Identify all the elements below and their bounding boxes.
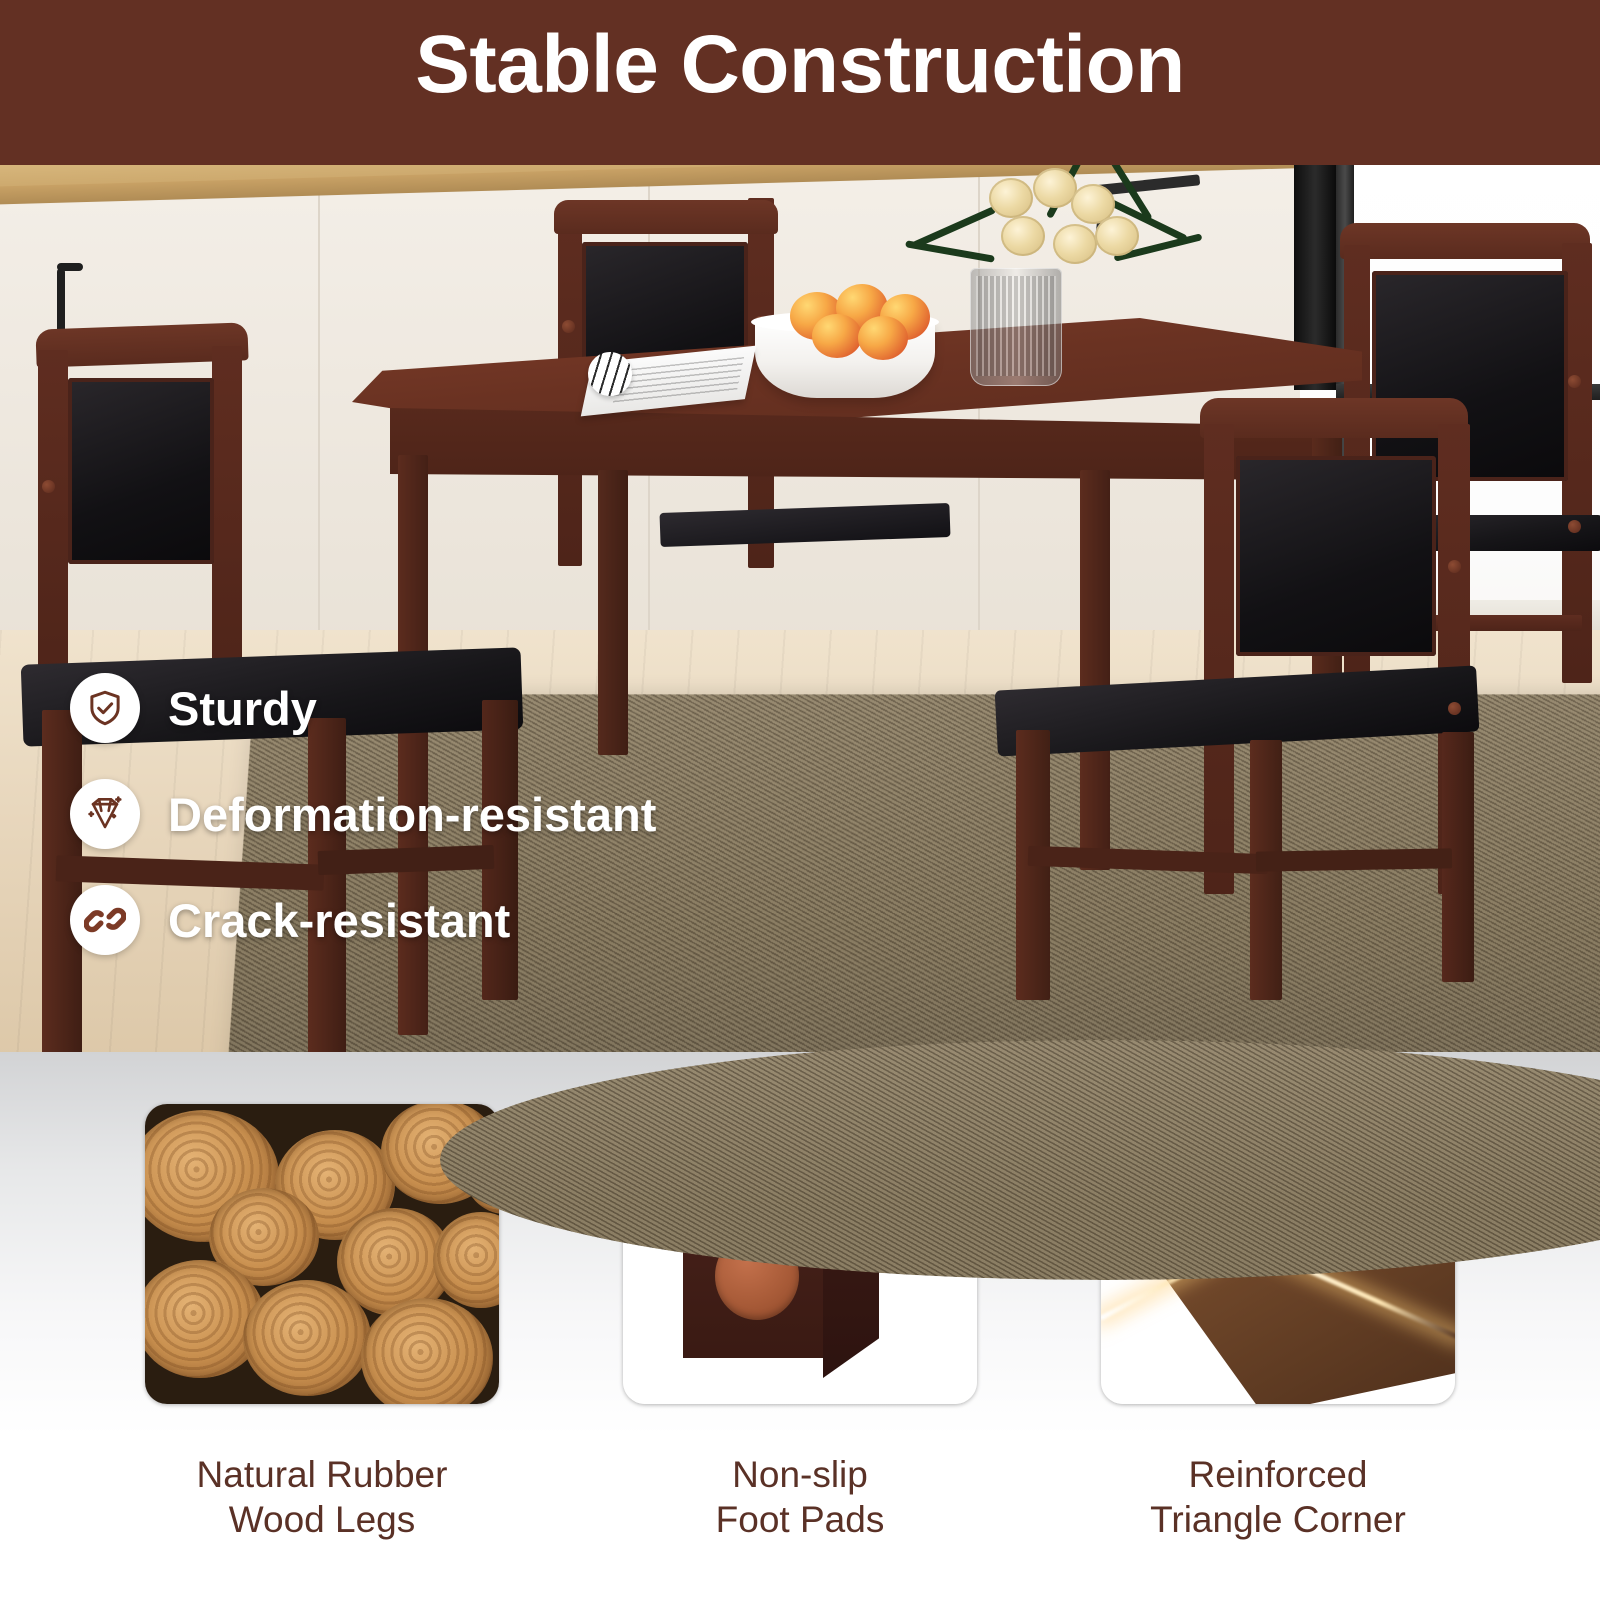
feature-badge bbox=[70, 673, 140, 743]
dining-chair-right-front bbox=[950, 380, 1510, 1000]
feature-item-deformation-resistant: Deformation-resistant bbox=[70, 778, 656, 850]
feature-item-sturdy: Sturdy bbox=[70, 672, 656, 744]
fruit-peach bbox=[812, 314, 862, 358]
glass-flower-vase bbox=[970, 268, 1062, 386]
feature-label: Sturdy bbox=[168, 685, 317, 732]
feature-list: Sturdy Deformation-resistant bbox=[70, 672, 656, 990]
detail-card-caption: Reinforced Triangle Corner bbox=[1101, 1452, 1455, 1542]
feature-item-crack-resistant: Crack-resistant bbox=[70, 884, 656, 956]
feature-label: Crack-resistant bbox=[168, 897, 510, 944]
feature-badge bbox=[70, 779, 140, 849]
fruit-peach bbox=[858, 316, 908, 360]
detail-card-caption: Non-slip Foot Pads bbox=[623, 1452, 977, 1542]
chain-link-icon bbox=[84, 899, 126, 941]
detail-card-caption: Natural Rubber Wood Legs bbox=[145, 1452, 499, 1542]
infographic-stage: Stable Construction Sturdy bbox=[0, 0, 1600, 1600]
feature-badge bbox=[70, 885, 140, 955]
diamond-sparkle-icon bbox=[84, 793, 126, 835]
shield-check-icon bbox=[84, 687, 126, 729]
page-title: Stable Construction bbox=[0, 24, 1600, 106]
feature-label: Deformation-resistant bbox=[168, 791, 656, 838]
